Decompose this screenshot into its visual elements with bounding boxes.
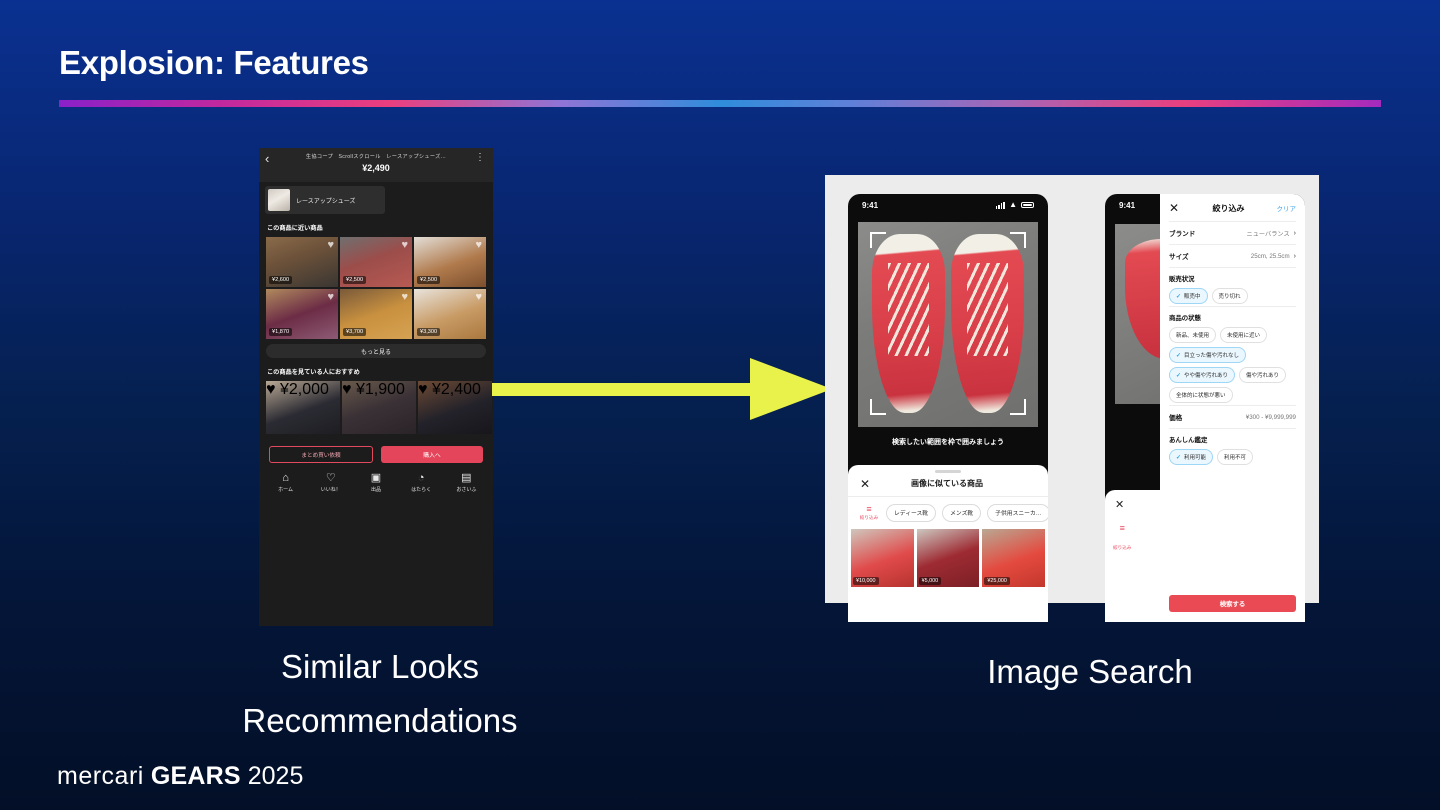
heart-icon[interactable]: ♥ — [266, 381, 276, 398]
heart-icon: ♡ — [326, 472, 336, 484]
option-label: 傷や汚れあり — [1246, 371, 1279, 379]
event-year: 2025 — [248, 762, 304, 791]
battery-icon — [1021, 202, 1034, 208]
heart-icon[interactable]: ♥ — [475, 292, 482, 303]
row-value-group: ニューバランス › — [1247, 229, 1296, 238]
bulk-purchase-request-button[interactable]: まとめ買い依頼 — [269, 446, 373, 463]
heart-icon[interactable]: ♥ — [342, 381, 352, 398]
result-tile[interactable]: ¥10,000 — [851, 529, 914, 587]
option-chip-no-visible-damage[interactable]: ✓ 目立った傷や汚れなし — [1169, 347, 1246, 363]
filter-group-anshin: あんしん鑑定 ✓ 利用可能 利用不可 — [1169, 428, 1296, 467]
category-chip-row: ≡ 絞り込み レディース靴 メンズ靴 子供用スニーカ… — [848, 497, 1048, 529]
heart-icon[interactable]: ♥ — [401, 292, 408, 303]
arrow-head — [750, 358, 832, 420]
sneaker-right — [951, 234, 1024, 413]
option-chip-sold-out[interactable]: 売り切れ — [1212, 288, 1248, 304]
option-chip-available[interactable]: ✓ 利用可能 — [1169, 449, 1213, 465]
nav-label: ホーム — [278, 486, 293, 493]
wifi-icon: ▲ — [1009, 201, 1017, 209]
option-chip-slight-damage[interactable]: ✓ やや傷や汚れあり — [1169, 367, 1235, 383]
filter-group-item-condition: 商品の状態 新品、未使用 未使用に近い ✓ 目立った傷や汚れなし ✓ やや傷や汚… — [1169, 306, 1296, 405]
item-chip-label: レースアップシューズ — [296, 196, 355, 205]
sneaker-left — [872, 234, 945, 413]
filter-panel-title: 絞り込み — [1185, 203, 1272, 214]
option-label: 利用可能 — [1184, 453, 1206, 461]
crop-corner-icon[interactable] — [870, 399, 886, 415]
product-breadcrumb: 生協コープ Scrollスクロール レースアップシューズ… — [279, 153, 473, 160]
item-thumbnail — [268, 189, 290, 211]
option-chip-poor-condition[interactable]: 全体的に状態が悪い — [1169, 387, 1233, 403]
status-time: 9:41 — [1119, 201, 1135, 210]
close-icon[interactable]: ✕ — [1169, 202, 1185, 214]
nav-item-likes[interactable]: ♡ いいね！ — [311, 472, 351, 493]
row-label: 価格 — [1169, 412, 1182, 422]
product-tile[interactable]: ♥ ¥3,700 — [340, 289, 412, 339]
tile-price: ¥1,900 — [356, 381, 405, 398]
search-results-grid: ¥10,000 ¥5,000 ¥25,000 — [848, 529, 1048, 587]
clock-icon: ◔ — [418, 472, 425, 484]
nav-label: はたらく — [411, 486, 431, 493]
product-tile[interactable]: ♥ ¥2,000 — [266, 381, 340, 434]
chip-womens-shoes[interactable]: レディース靴 — [886, 504, 936, 522]
group-options: 新品、未使用 未使用に近い ✓ 目立った傷や汚れなし ✓ やや傷や汚れあり 傷や — [1169, 327, 1296, 403]
group-title: あんしん鑑定 — [1169, 435, 1296, 444]
result-price: ¥25,000 — [984, 577, 1010, 585]
product-tile[interactable]: ♥ ¥2,400 — [418, 381, 492, 434]
tile-price: ¥2,400 — [432, 381, 481, 398]
status-indicators: ▲ — [996, 201, 1034, 209]
product-tile[interactable]: ♥ ¥2,500 — [340, 237, 412, 287]
row-label: サイズ — [1169, 251, 1189, 261]
option-label: 新品、未使用 — [1176, 331, 1209, 339]
filter-icon: ≡ — [866, 505, 871, 514]
sheet-header: ✕ 画像に似ている商品 — [848, 473, 1048, 496]
current-item-chip[interactable]: レースアップシューズ — [265, 186, 385, 214]
group-options: ✓ 販売中 売り切れ — [1169, 288, 1296, 304]
home-icon: ⌂ — [282, 472, 289, 484]
nav-item-work[interactable]: ◔ はたらく — [401, 472, 441, 493]
heart-icon[interactable]: ♥ — [418, 381, 428, 398]
result-price: ¥10,000 — [853, 577, 879, 585]
filter-row-brand[interactable]: ブランド ニューバランス › — [1169, 221, 1296, 244]
event-name: GEARS — [151, 762, 241, 791]
crop-corner-icon[interactable] — [870, 232, 886, 248]
chip-kids-sneakers[interactable]: 子供用スニーカ… — [987, 504, 1048, 522]
check-icon: ✓ — [1176, 454, 1181, 461]
option-label: 売り切れ — [1219, 292, 1241, 300]
status-time: 9:41 — [862, 201, 878, 210]
row-value-group: 25cm, 25.5cm › — [1251, 253, 1296, 260]
heart-icon[interactable]: ♥ — [401, 240, 408, 251]
bottom-navigation: ⌂ ホーム ♡ いいね！ ▣ 出品 ◔ はたらく ▤ おさいふ — [259, 463, 493, 493]
filter-label: 絞り込み — [860, 515, 878, 521]
page-title: Explosion: Features — [59, 44, 369, 82]
recommended-heading: この商品を見ている人におすすめ — [267, 367, 493, 376]
left-caption: Similar Looks Recommendations — [180, 640, 580, 749]
option-chip-new[interactable]: 新品、未使用 — [1169, 327, 1216, 343]
nav-item-sell[interactable]: ▣ 出品 — [356, 472, 396, 493]
option-chip-damaged[interactable]: 傷や汚れあり — [1239, 367, 1286, 383]
option-label: 利用不可 — [1224, 453, 1246, 461]
row-value: 25cm, 25.5cm — [1251, 253, 1290, 260]
product-price: ¥2,490 — [279, 163, 473, 173]
similar-looks-phone-mockup: ‹ 生協コープ Scrollスクロール レースアップシューズ… ¥2,490 ⋮… — [259, 148, 493, 626]
viewfinder-hint: 検索したい範囲を枠で囲みましょう — [848, 437, 1048, 447]
result-tile[interactable]: ¥5,000 — [917, 529, 980, 587]
row-label: ブランド — [1169, 228, 1195, 238]
nav-label: いいね！ — [321, 486, 341, 493]
back-icon[interactable]: ‹ — [265, 152, 279, 166]
status-bar: 9:41 ▲ — [848, 194, 1048, 216]
tile-price: ¥3,300 — [417, 328, 440, 336]
overflow-menu-icon[interactable]: ⋮ — [473, 152, 485, 163]
option-label: やや傷や汚れあり — [1184, 371, 1228, 379]
filter-phone-mockup: 9:41 ✕ ≡ 絞り込み ✕ 絞り込み クリア ブランド ニューバラ — [1105, 194, 1305, 622]
chevron-right-icon: › — [1294, 253, 1296, 260]
similar-items-grid: ♥ ¥2,600 ♥ ¥2,500 ♥ ¥2,500 ♥ ¥1,870 ♥ ¥3… — [259, 237, 493, 339]
result-price: ¥5,000 — [919, 577, 942, 585]
buy-button[interactable]: 購入へ — [381, 446, 483, 463]
option-label: 未使用に近い — [1227, 331, 1260, 339]
camera-search-phone-mockup: 9:41 ▲ 検索したい範囲を枠で囲みましょう ✕ 画像に似ている商品 — [848, 194, 1048, 622]
product-action-bar: まとめ買い依頼 購入へ — [259, 434, 493, 463]
product-tile[interactable]: ♥ ¥3,300 — [414, 289, 486, 339]
right-caption: Image Search — [900, 653, 1280, 691]
crop-corner-icon[interactable] — [1010, 399, 1026, 415]
group-title: 販売状況 — [1169, 274, 1296, 283]
tile-price: ¥2,600 — [269, 276, 292, 284]
sneaker-photo — [872, 234, 1024, 413]
filter-button[interactable]: ≡ 絞り込み — [858, 505, 880, 521]
product-topbar: ‹ 生協コープ Scrollスクロール レースアップシューズ… ¥2,490 ⋮ — [259, 148, 493, 182]
option-chip-on-sale[interactable]: ✓ 販売中 — [1169, 288, 1208, 304]
sheet-title: 画像に似ている商品 — [870, 478, 1024, 489]
option-label: 目立った傷や汚れなし — [1184, 351, 1239, 359]
filter-button[interactable]: ≡ 絞り込み — [1113, 518, 1131, 554]
nav-label: おさいふ — [456, 486, 476, 493]
image-search-card: 9:41 ▲ 検索したい範囲を枠で囲みましょう ✕ 画像に似ている商品 — [825, 175, 1319, 603]
heart-icon[interactable]: ♥ — [327, 292, 334, 303]
filter-panel-header: ✕ 絞り込み クリア — [1169, 202, 1296, 214]
chip-mens-shoes[interactable]: メンズ靴 — [942, 504, 981, 522]
product-tile[interactable]: ♥ ¥1,900 — [342, 381, 416, 434]
filter-group-sale-status: 販売状況 ✓ 販売中 売り切れ — [1169, 267, 1296, 306]
show-more-button[interactable]: もっと見る — [266, 344, 486, 358]
group-title: 商品の状態 — [1169, 313, 1296, 322]
row-value: ニューバランス — [1247, 229, 1290, 238]
filter-icon: ≡ — [1120, 523, 1125, 533]
filter-row-price[interactable]: 価格 ¥300 - ¥9,999,999 — [1169, 405, 1296, 428]
option-chip-like-new[interactable]: 未使用に近い — [1220, 327, 1267, 343]
crop-corner-icon[interactable] — [1010, 232, 1026, 248]
similar-items-sheet: ✕ 画像に似ている商品 ≡ 絞り込み レディース靴 メンズ靴 子供用スニーカ… … — [848, 465, 1048, 622]
filter-row-size[interactable]: サイズ 25cm, 25.5cm › — [1169, 244, 1296, 267]
tile-price: ¥2,500 — [417, 276, 440, 284]
tile-price: ¥2,500 — [343, 276, 366, 284]
nav-item-wallet[interactable]: ▤ おさいふ — [446, 472, 486, 493]
check-icon: ✓ — [1176, 372, 1181, 379]
close-icon[interactable]: ✕ — [860, 478, 870, 490]
option-chip-unavailable[interactable]: 利用不可 — [1217, 449, 1253, 465]
title-accent-rule — [59, 100, 1381, 107]
check-icon: ✓ — [1176, 293, 1181, 300]
tile-price: ¥1,870 — [269, 328, 292, 336]
heart-icon[interactable]: ♥ — [327, 240, 334, 251]
clear-filters-button[interactable]: クリア — [1272, 203, 1296, 213]
caption-line-2: Recommendations — [180, 694, 580, 748]
wallet-icon: ▤ — [461, 472, 471, 484]
row-value: ¥300 - ¥9,999,999 — [1246, 414, 1296, 421]
group-options: ✓ 利用可能 利用不可 — [1169, 449, 1296, 465]
camera-viewfinder[interactable] — [858, 222, 1038, 427]
filter-panel: ✕ 絞り込み クリア ブランド ニューバランス › サイズ 25cm, 25.5… — [1160, 194, 1305, 622]
nav-label: 出品 — [371, 486, 381, 493]
product-tile[interactable]: ♥ ¥2,500 — [414, 237, 486, 287]
brand-name: mercari — [57, 762, 144, 791]
tile-price: ¥2,000 — [280, 381, 329, 398]
tile-price: ¥3,700 — [343, 328, 366, 336]
product-tile[interactable]: ♥ ¥2,600 — [266, 237, 338, 287]
search-button[interactable]: 検索する — [1169, 595, 1296, 612]
filter-label: 絞り込み — [1113, 545, 1131, 550]
arrow-shaft — [492, 383, 754, 396]
product-tile[interactable]: ♥ ¥1,870 — [266, 289, 338, 339]
option-label: 全体的に状態が悪い — [1176, 391, 1226, 399]
result-tile[interactable]: ¥25,000 — [982, 529, 1045, 587]
nav-item-home[interactable]: ⌂ ホーム — [266, 472, 306, 493]
signal-icon — [996, 202, 1005, 209]
check-icon: ✓ — [1176, 352, 1181, 359]
heart-icon[interactable]: ♥ — [475, 240, 482, 251]
similar-items-heading: この商品に近い商品 — [267, 223, 493, 232]
chevron-right-icon: › — [1294, 230, 1296, 237]
option-label: 販売中 — [1184, 292, 1201, 300]
camera-icon: ▣ — [371, 472, 381, 484]
recommended-items-grid: ♥ ¥2,000 ♥ ¥1,900 ♥ ¥2,400 — [259, 381, 493, 434]
product-title-block: 生協コープ Scrollスクロール レースアップシューズ… ¥2,490 — [279, 152, 473, 173]
footer-logo: mercari GEARS 2025 — [57, 762, 303, 791]
close-icon[interactable]: ✕ — [1115, 498, 1124, 511]
caption-line-1: Similar Looks — [180, 640, 580, 694]
yellow-right-arrow — [492, 358, 832, 420]
